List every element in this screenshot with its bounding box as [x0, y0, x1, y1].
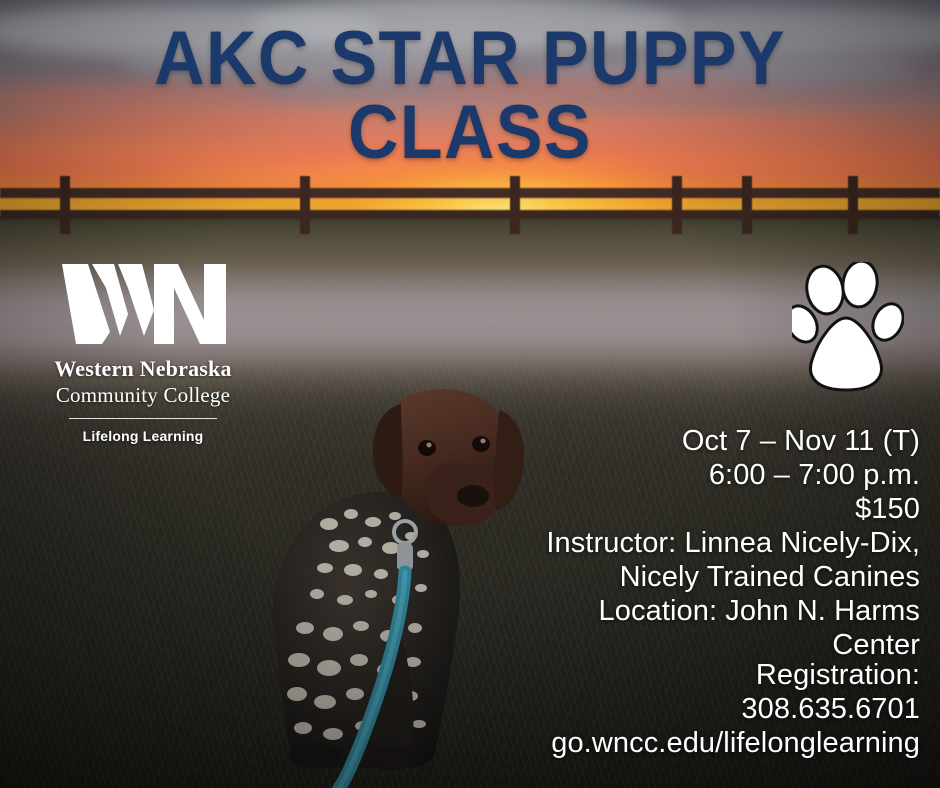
fence-post	[60, 176, 70, 234]
paw-toe-4	[867, 299, 904, 345]
logo-tagline: Lifelong Learning	[48, 428, 238, 444]
paw-toe-2	[840, 262, 880, 309]
paw-toe-1	[803, 263, 847, 317]
registration-text: Registration: 308.635.6701 go.wncc.edu/l…	[300, 658, 920, 760]
page-title: AKC STAR PUPPY CLASS	[38, 22, 903, 170]
wncc-logo: Western Nebraska Community College Lifel…	[48, 258, 238, 444]
fence-rail-bottom	[0, 210, 940, 219]
class-details-text: Oct 7 – Nov 11 (T) 6:00 – 7:00 p.m. $150…	[360, 424, 920, 662]
wncc-wn-monogram-icon	[58, 258, 228, 350]
logo-name-line2: Community College	[48, 382, 238, 408]
logo-divider	[69, 418, 217, 419]
logo-name-line1: Western Nebraska	[48, 356, 238, 382]
paw-print-icon	[792, 262, 904, 396]
wooden-fence	[0, 176, 940, 234]
fence-post	[848, 176, 858, 234]
fence-post	[672, 176, 682, 234]
paw-main-pad	[810, 318, 881, 390]
fence-post	[510, 176, 520, 234]
fence-rail-top	[0, 188, 940, 198]
logo-institution-name: Western Nebraska Community College	[48, 356, 238, 408]
fence-post	[300, 176, 310, 234]
flyer-canvas: AKC STAR PUPPY CLASS Western Nebraska Co…	[0, 0, 940, 788]
fence-post	[742, 176, 752, 234]
